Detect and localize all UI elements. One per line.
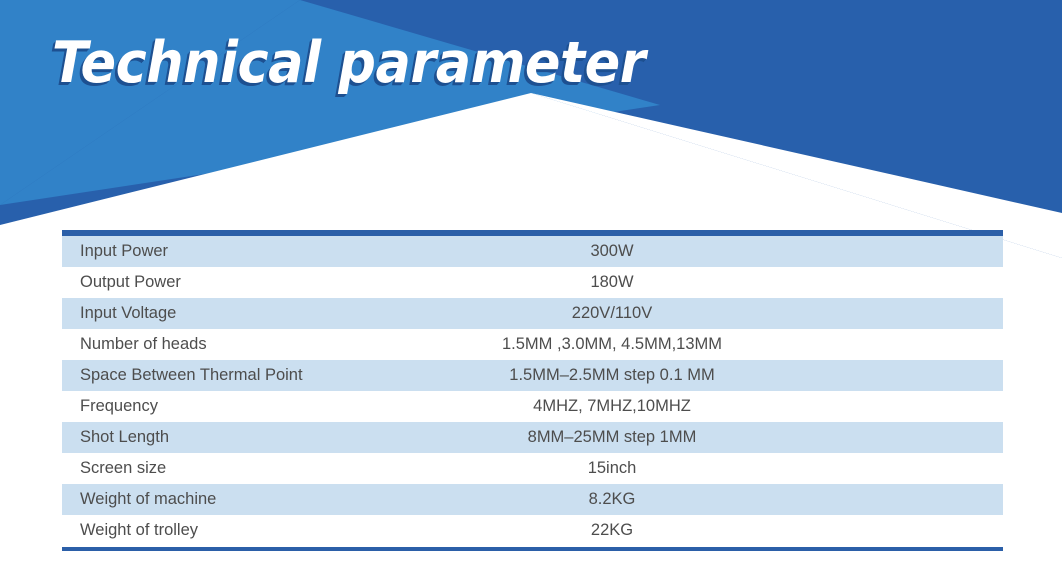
- spec-label: Shot Length: [62, 428, 402, 447]
- spec-value: 220V/110V: [402, 304, 822, 323]
- spec-label: Input Voltage: [62, 304, 402, 323]
- table-row: Space Between Thermal Point1.5MM–2.5MM s…: [62, 360, 1003, 391]
- spec-value: 1.5MM ,3.0MM, 4.5MM,13MM: [402, 335, 822, 354]
- technical-parameter-page: Technical parameter Input Power300WOutpu…: [0, 0, 1062, 575]
- spec-value: 180W: [402, 273, 822, 292]
- table-row: Input Voltage220V/110V: [62, 298, 1003, 329]
- spec-label: Output Power: [62, 273, 402, 292]
- table-row: Screen size15inch: [62, 453, 1003, 484]
- table-bottom-rule: [62, 547, 1003, 551]
- spec-value: 300W: [402, 242, 822, 261]
- table-row: Shot Length8MM–25MM step 1MM: [62, 422, 1003, 453]
- table-row: Frequency4MHZ, 7MHZ,10MHZ: [62, 391, 1003, 422]
- spec-label: Number of heads: [62, 335, 402, 354]
- spec-value: 15inch: [402, 459, 822, 478]
- spec-value: 8MM–25MM step 1MM: [402, 428, 822, 447]
- spec-label: Frequency: [62, 397, 402, 416]
- spec-value: 4MHZ, 7MHZ,10MHZ: [402, 397, 822, 416]
- spec-value: 8.2KG: [402, 490, 822, 509]
- table-row: Input Power300W: [62, 236, 1003, 267]
- spec-value: 22KG: [402, 521, 822, 540]
- spec-label: Input Power: [62, 242, 402, 261]
- spec-label: Weight of machine: [62, 490, 402, 509]
- table-row: Number of heads1.5MM ,3.0MM, 4.5MM,13MM: [62, 329, 1003, 360]
- spec-label: Screen size: [62, 459, 402, 478]
- table-row: Weight of trolley22KG: [62, 515, 1003, 546]
- spec-label: Space Between Thermal Point: [62, 366, 402, 385]
- page-title: Technical parameter: [52, 28, 751, 100]
- spec-table: Input Power300WOutput Power180WInput Vol…: [62, 230, 1003, 551]
- table-row: Weight of machine8.2KG: [62, 484, 1003, 515]
- table-row: Output Power180W: [62, 267, 1003, 298]
- spec-table-body: Input Power300WOutput Power180WInput Vol…: [62, 236, 1003, 546]
- spec-value: 1.5MM–2.5MM step 0.1 MM: [402, 366, 822, 385]
- header-banner: Technical parameter: [0, 0, 1062, 258]
- spec-label: Weight of trolley: [62, 521, 402, 540]
